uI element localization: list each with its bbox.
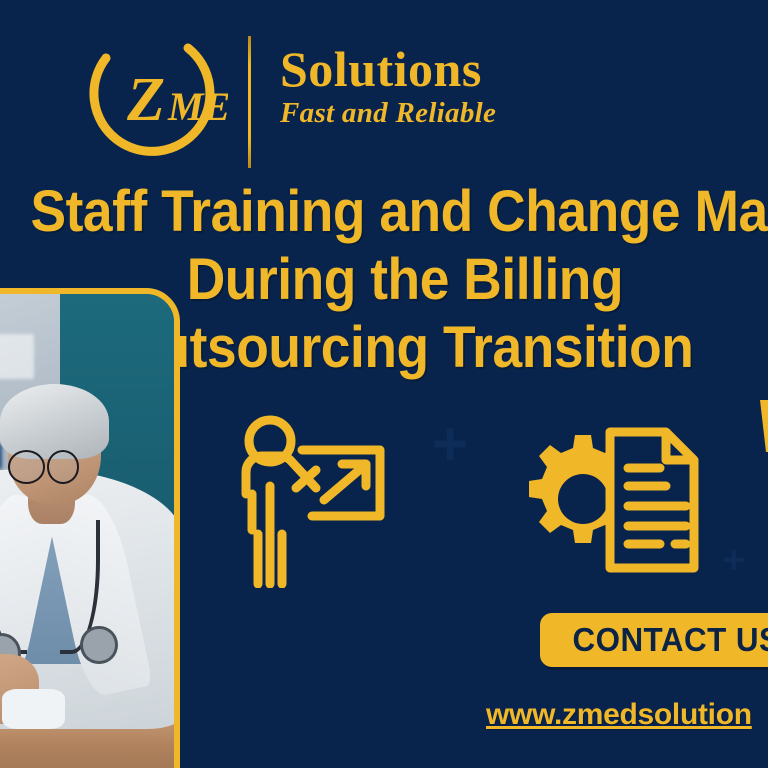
photo-eyeglass-right bbox=[47, 450, 80, 484]
brand-tagline: Fast and Reliable bbox=[280, 96, 538, 130]
gear-document-icon bbox=[498, 418, 710, 580]
website-url[interactable]: www.zmedsolution bbox=[486, 698, 752, 732]
plus-cross-icon: + bbox=[722, 540, 745, 580]
logo-divider bbox=[248, 36, 251, 168]
brand-name: Solutions bbox=[280, 42, 538, 96]
headline-line-1: Staff Training and Change Man bbox=[30, 178, 757, 246]
svg-text:Z: Z bbox=[126, 66, 165, 134]
svg-text:MED: MED bbox=[167, 84, 228, 129]
document-shape bbox=[610, 432, 694, 568]
logo-wordmark: Solutions Fast and Reliable bbox=[280, 42, 538, 130]
plus-cross-icon: + bbox=[432, 414, 468, 476]
contact-us-button[interactable]: CONTACT US bbox=[540, 613, 768, 667]
trainer-presentation-icon bbox=[228, 408, 408, 588]
photo-illustration bbox=[0, 294, 174, 768]
clipped-icon bbox=[744, 396, 768, 576]
doctor-photo bbox=[0, 288, 180, 768]
zmed-circle-logo-icon: Z MED bbox=[68, 22, 228, 172]
photo-hair bbox=[0, 384, 109, 459]
brand-logo[interactable]: Z MED Solutions Fast and Reliable bbox=[68, 22, 538, 172]
photo-eyeglass-left bbox=[8, 450, 46, 484]
promotional-banner: Z MED Solutions Fast and Reliable Staff … bbox=[0, 0, 768, 768]
contact-us-label: CONTACT US bbox=[572, 621, 768, 659]
photo-stethoscope-disc-right bbox=[80, 626, 117, 665]
photo-sleeve-cuff bbox=[2, 689, 64, 729]
photo-wall-poster bbox=[0, 334, 34, 379]
